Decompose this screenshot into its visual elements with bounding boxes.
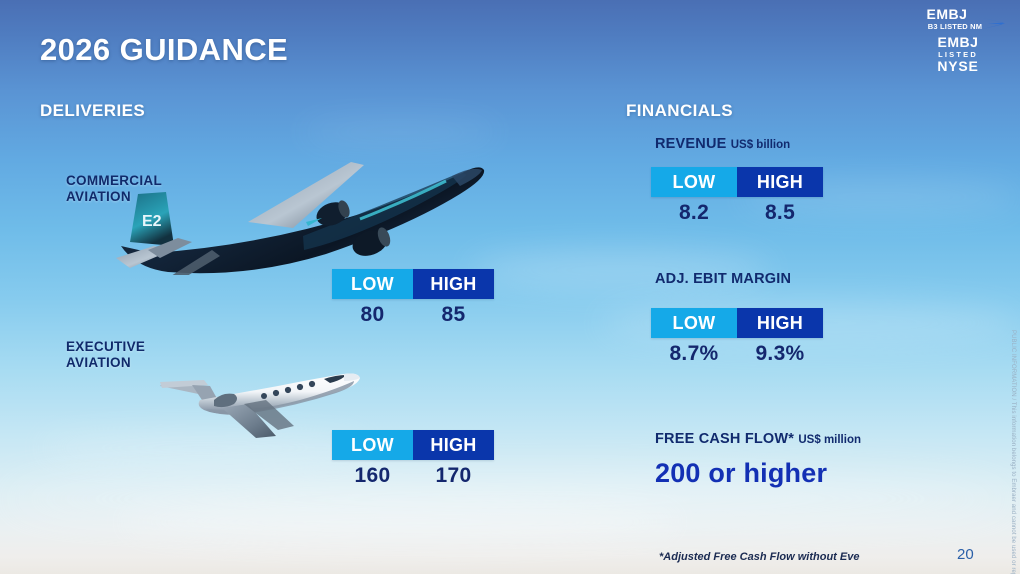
low-high-values: 8.2 8.5 [651,201,823,225]
high-value: 85 [413,303,494,327]
side-disclaimer: PUBLIC INFORMATION / This information be… [1006,330,1020,574]
svg-text:E2: E2 [142,213,162,230]
logo-line-5: NYSE [910,59,1006,74]
revenue-guidance-range: LOW HIGH 8.2 8.5 [651,167,823,225]
low-value: 80 [332,303,413,327]
low-high-bar: LOW HIGH [651,308,823,338]
low-label: LOW [332,269,413,299]
low-value: 160 [332,464,413,488]
high-label: HIGH [413,269,494,299]
ebit-margin-guidance-range: LOW HIGH 8.7% 9.3% [651,308,823,366]
low-value: 8.7% [651,342,737,366]
free-cash-flow-unit: US$ million [798,434,861,446]
ebit-margin-heading: ADJ. EBIT MARGIN [655,271,791,287]
high-value: 170 [413,464,494,488]
revenue-name: REVENUE [655,136,727,152]
executive-aviation-label-line2: AVIATION [66,355,131,370]
cloud-wisp [300,120,500,144]
executive-aviation-label: EXECUTIVE AVIATION [66,339,145,371]
executive-aviation-label-line1: EXECUTIVE [66,339,145,354]
page-title: 2026 GUIDANCE [40,32,288,68]
cloud-wisp [120,500,680,544]
financials-heading: FINANCIALS [626,101,733,121]
revenue-heading: REVENUE US$ billion [655,136,790,152]
low-high-bar: LOW HIGH [332,430,494,460]
low-high-values: 8.7% 9.3% [651,342,823,366]
high-label: HIGH [413,430,494,460]
free-cash-flow-heading: FREE CASH FLOW* US$ million [655,431,861,447]
side-disclaimer-text: PUBLIC INFORMATION / This information be… [1010,330,1016,574]
low-high-bar: LOW HIGH [332,269,494,299]
page-number: 20 [957,546,974,563]
logo-line-3: EMBJ [910,34,1006,50]
high-label: HIGH [737,308,823,338]
low-high-bar: LOW HIGH [651,167,823,197]
high-value: 8.5 [737,201,823,225]
low-value: 8.2 [651,201,737,225]
low-high-values: 80 85 [332,303,494,327]
footnote: *Adjusted Free Cash Flow without Eve [659,551,859,563]
free-cash-flow-name: FREE CASH FLOW* [655,431,794,447]
low-label: LOW [651,308,737,338]
stock-listing-logo: EMBJ B3 LISTED NM EMBJ LISTED NYSE [910,7,1006,81]
logo-line-2: B3 LISTED NM [910,22,1000,31]
deliveries-heading: DELIVERIES [40,101,145,121]
executive-guidance-range: LOW HIGH 160 170 [332,430,494,488]
logo-line-1: EMBJ [910,7,984,22]
commercial-jet-icon: E2 [108,150,498,275]
free-cash-flow-value: 200 or higher [655,458,827,489]
low-label: LOW [651,167,737,197]
high-value: 9.3% [737,342,823,366]
cloud-haze [0,470,1020,528]
revenue-unit: US$ billion [731,139,790,151]
high-label: HIGH [737,167,823,197]
slide-canvas: 2026 GUIDANCE EMBJ B3 LISTED NM EMBJ LIS… [0,0,1020,574]
ebit-margin-name: ADJ. EBIT MARGIN [655,271,791,287]
commercial-guidance-range: LOW HIGH 80 85 [332,269,494,327]
low-label: LOW [332,430,413,460]
low-high-values: 160 170 [332,464,494,488]
executive-jet-icon [148,352,378,442]
